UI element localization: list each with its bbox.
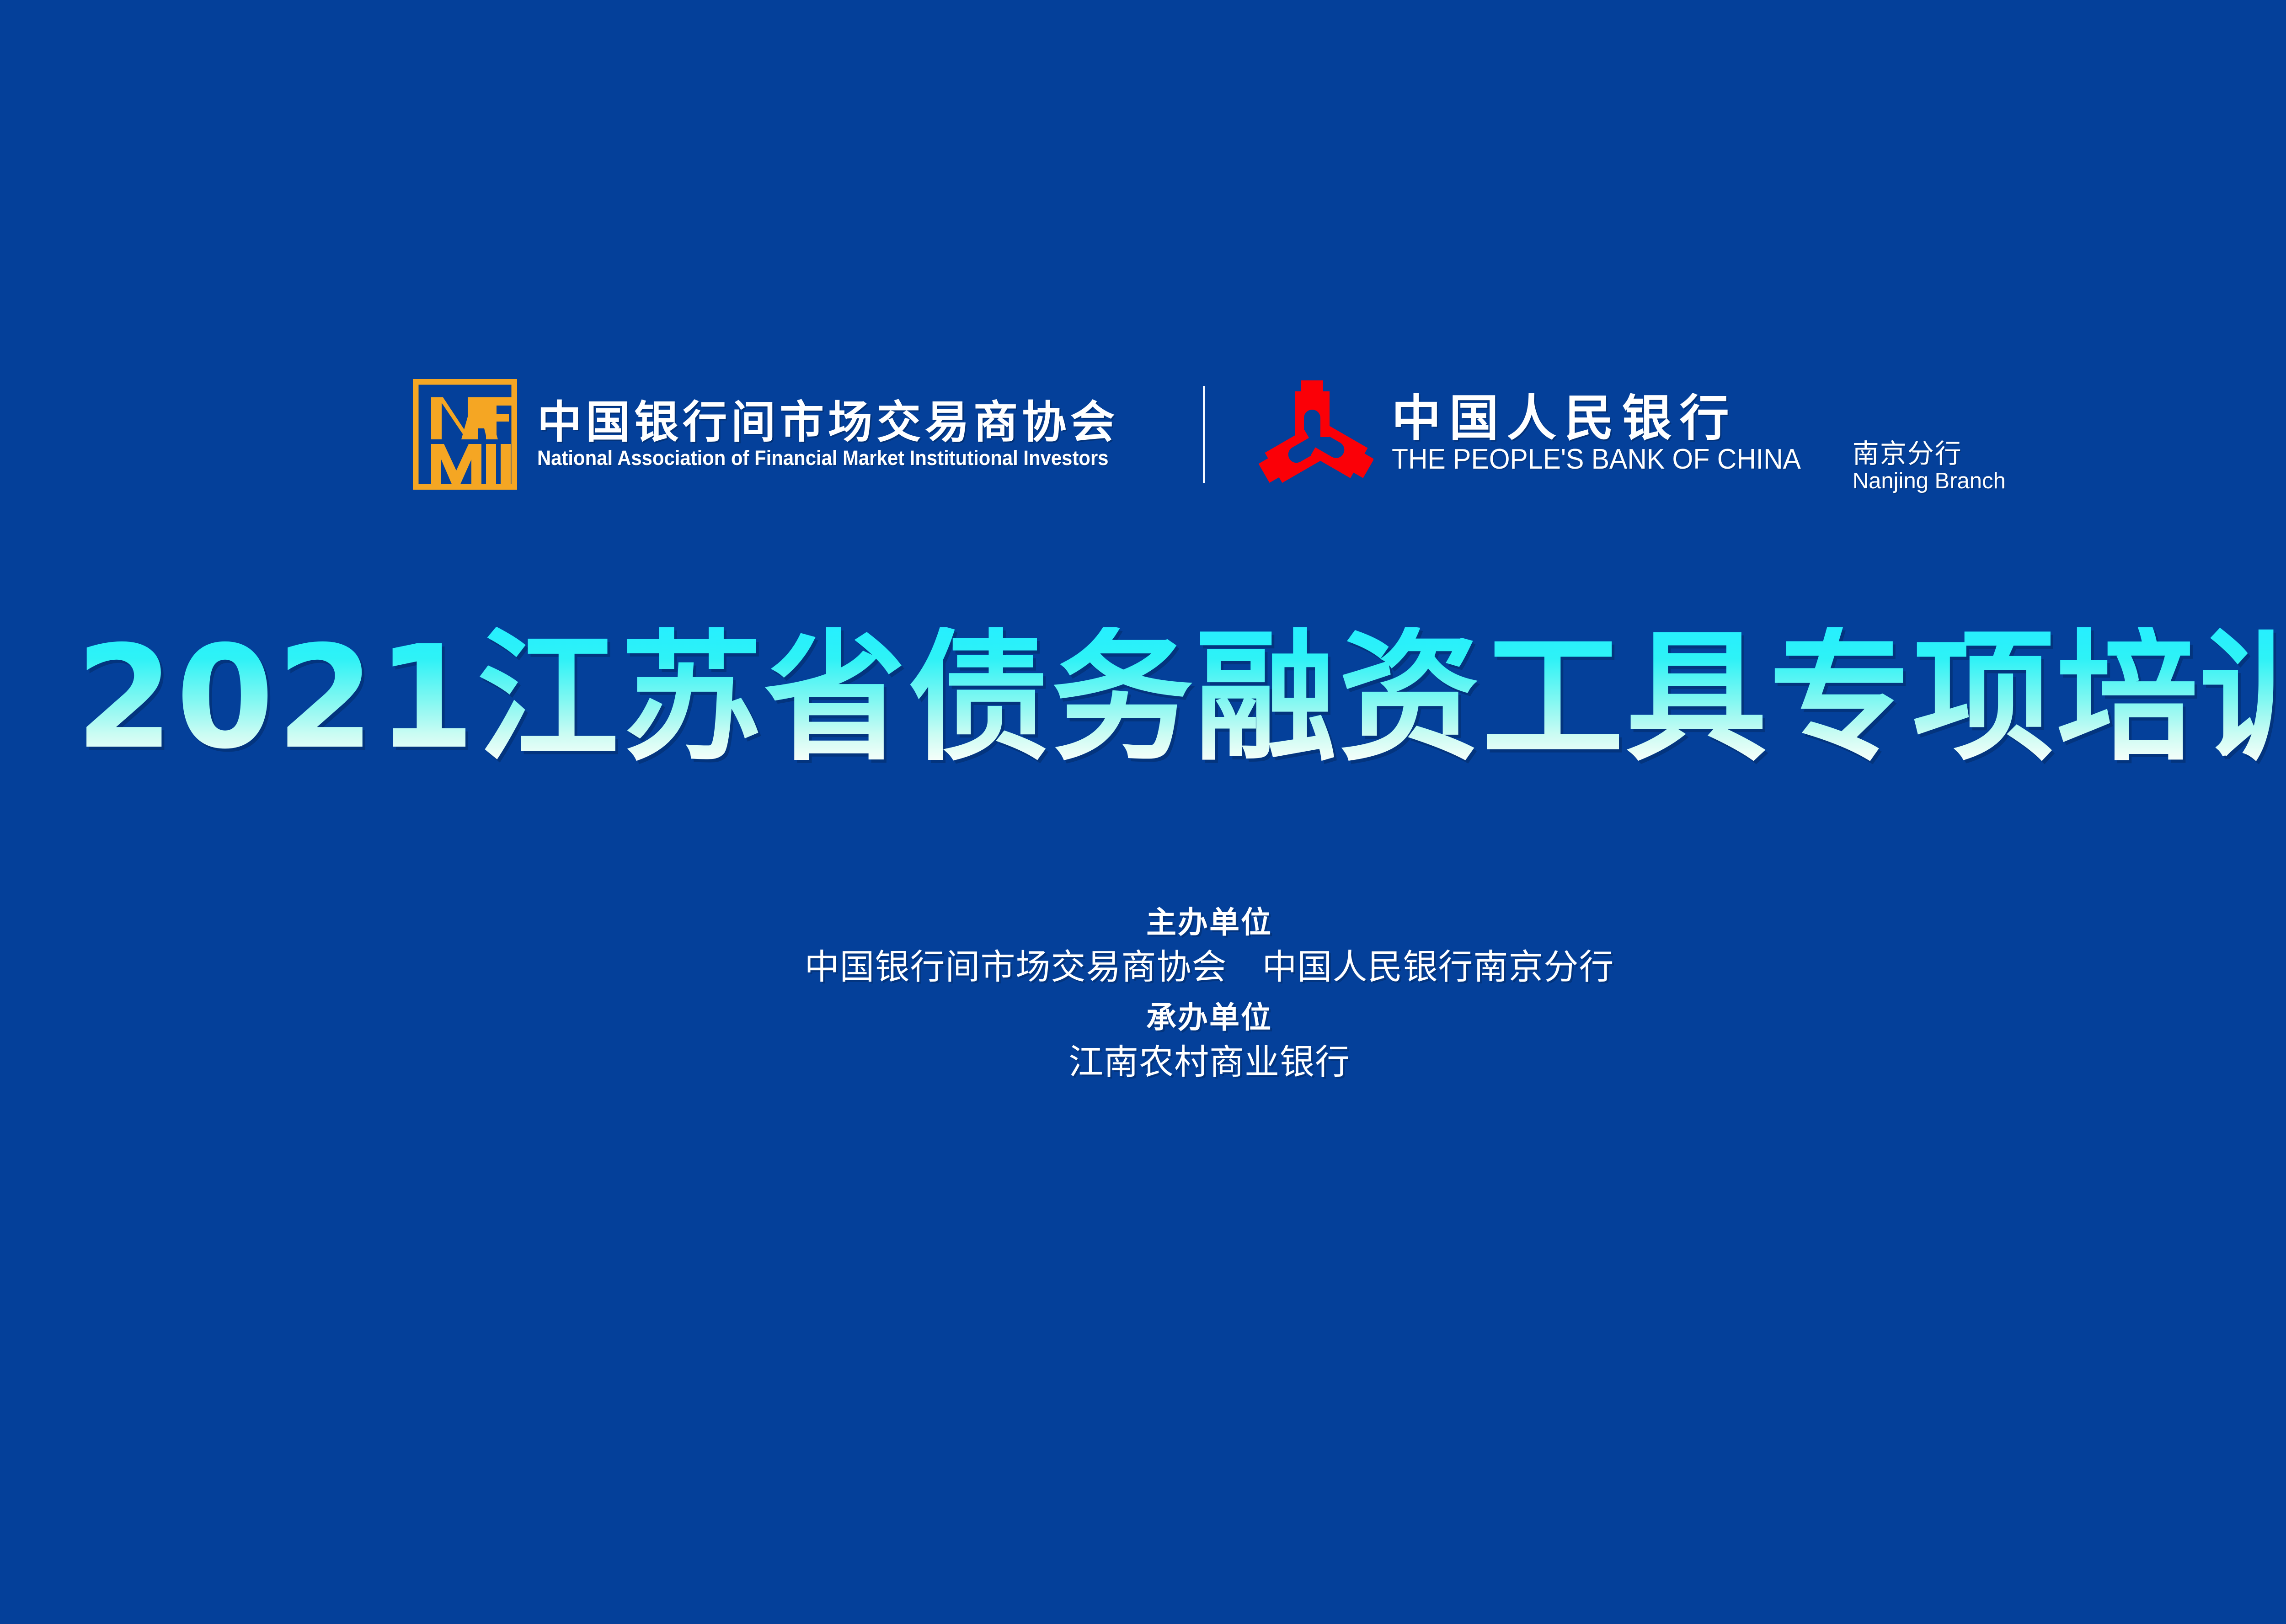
pboc-logo-group: 中国人民银行 THE PEOPLE'S BANK OF CHINA 南京分行 N… bbox=[1256, 374, 2006, 495]
logo-bar: 中国银行间市场交易商协会 National Association of Fin… bbox=[0, 366, 2286, 503]
logo-divider bbox=[1203, 386, 1205, 483]
nafmii-name-cn: 中国银行间市场交易商协会 bbox=[537, 400, 1152, 444]
nafmii-text-block: 中国银行间市场交易商协会 National Association of Fin… bbox=[537, 400, 1152, 469]
pboc-branch-en: Nanjing Branch bbox=[1853, 470, 2006, 493]
organizer-label: 承办单位 bbox=[0, 998, 2286, 1037]
credits-block: 主办单位 中国银行间市场交易商协会 中国人民银行南京分行 承办单位 江南农村商业… bbox=[0, 903, 2286, 1086]
pboc-branch-block: 南京分行 Nanjing Branch bbox=[1853, 440, 2006, 495]
nafmii-name-en: National Association of Financial Market… bbox=[537, 447, 1109, 469]
pboc-logo-icon bbox=[1256, 374, 1373, 495]
pboc-text-block: 中国人民银行 THE PEOPLE'S BANK OF CHINA bbox=[1392, 394, 1822, 474]
pboc-branch-cn: 南京分行 bbox=[1853, 440, 2006, 468]
host-names: 中国银行间市场交易商协会 中国人民银行南京分行 bbox=[0, 942, 2286, 992]
host-label: 主办单位 bbox=[0, 903, 2286, 942]
nafmii-logo-group: 中国银行间市场交易商协会 National Association of Fin… bbox=[413, 379, 1152, 490]
organizer-names: 江南农村商业银行 bbox=[0, 1037, 2286, 1087]
pboc-name-cn: 中国人民银行 bbox=[1392, 394, 1822, 443]
pboc-name-en: THE PEOPLE'S BANK OF CHINA bbox=[1392, 444, 1801, 474]
poster-root: 中国银行间市场交易商协会 National Association of Fin… bbox=[0, 0, 2286, 1624]
page-title: 2021江苏省债务融资工具专项培训 bbox=[0, 627, 2286, 769]
credits-spacer bbox=[0, 992, 2286, 998]
nafmii-logo-icon bbox=[413, 379, 517, 490]
